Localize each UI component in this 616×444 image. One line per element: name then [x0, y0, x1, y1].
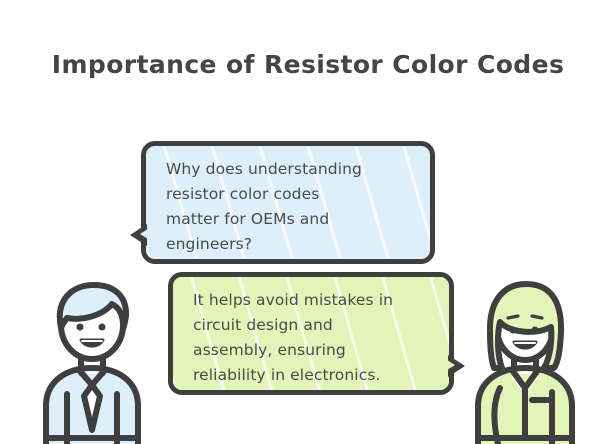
man-avatar	[34, 278, 150, 444]
slide-canvas: Importance of Resistor Color Codes Why d…	[0, 0, 616, 444]
woman-avatar	[466, 278, 584, 444]
answer-text: It helps avoid mistakes in circuit desig…	[193, 288, 449, 388]
speech-bubble-question: Why does understanding resistor color co…	[141, 141, 435, 264]
bubble-tail-question-fill	[140, 227, 151, 241]
woman-eye-right	[532, 327, 539, 334]
speech-bubble-answer: It helps avoid mistakes in circuit desig…	[168, 272, 454, 395]
man-eye-right	[99, 324, 106, 331]
woman-eye-left	[510, 327, 517, 334]
man-eye-left	[77, 324, 84, 331]
question-text: Why does understanding resistor color co…	[166, 157, 422, 257]
page-title: Importance of Resistor Color Codes	[0, 50, 616, 79]
